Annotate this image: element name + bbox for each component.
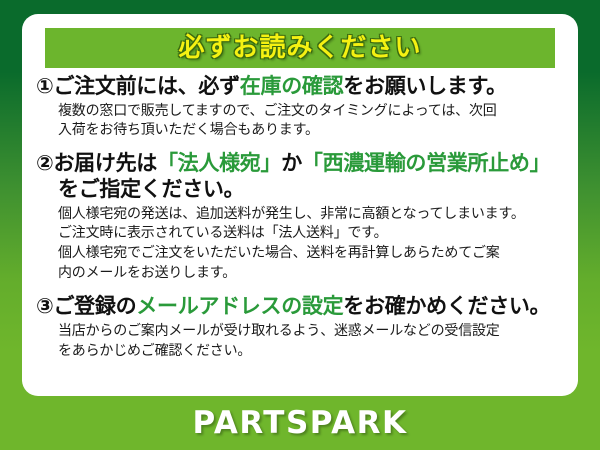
heading-text: をお確かめください。 xyxy=(343,294,550,318)
heading-text: ご注文前には、必ず xyxy=(53,74,239,98)
heading-text: お届け先は xyxy=(53,151,157,175)
notice-item-body-line: をあらかじめご確認ください。 xyxy=(58,342,568,362)
notice-item-body-line: 入荷をお待ち頂いただく場合もあります。 xyxy=(58,121,568,141)
notice-item-heading: ①ご注文前には、必ず在庫の確認をお願いします。 xyxy=(36,74,568,100)
notice-item-heading-line-2: をご指定ください。 xyxy=(36,177,568,203)
heading-text: をお願いします。 xyxy=(343,74,507,98)
notice-item-number: ② xyxy=(36,151,53,175)
notice-item-body-line: 複数の窓口で販売してますので、ご注文のタイミングによっては、次回 xyxy=(58,102,568,122)
notice-item-body-line: 個人様宅宛でご注文をいただいた場合、送料を再計算しあらためてご案 xyxy=(58,244,568,264)
notice-item-body: 当店からのご案内メールが受け取れるよう、迷惑メールなどの受信設定をあらかじめご確… xyxy=(36,322,568,362)
heading-highlight-text: 「西濃運輸の営業所止め」 xyxy=(302,151,550,175)
notice-frame: 必ずお読みください ①ご注文前には、必ず在庫の確認をお願いします。複数の窓口で販… xyxy=(0,0,600,450)
heading-highlight-text: メールアドレスの設定 xyxy=(136,294,343,318)
heading-highlight-text: 「法人様宛」 xyxy=(157,151,281,175)
notice-item-heading: ③ご登録のメールアドレスの設定をお確かめください。 xyxy=(36,294,568,320)
notice-item-body-line: ご注文時に表示されている送料は「法人送料」です。 xyxy=(58,224,568,244)
notice-item-body: 個人様宅宛の発送は、追加送料が発生し、非常に高額となってしまいます。ご注文時に表… xyxy=(36,205,568,285)
notice-item-body-line: 当店からのご案内メールが受け取れるよう、迷惑メールなどの受信設定 xyxy=(58,322,568,342)
brand-name: PARTSPARK xyxy=(192,408,407,439)
footer-bar: PARTSPARK xyxy=(0,396,600,450)
notice-item-body-line: 個人様宅宛の発送は、追加送料が発生し、非常に高額となってしまいます。 xyxy=(58,205,568,225)
notice-title: 必ずお読みください xyxy=(178,35,421,61)
notice-item-number: ① xyxy=(36,74,53,98)
notice-item-body: 複数の窓口で販売してますので、ご注文のタイミングによっては、次回入荷をお待ち頂い… xyxy=(36,102,568,142)
notice-item: ②お届け先は「法人様宛」か「西濃運輸の営業所止め」をご指定ください。個人様宅宛の… xyxy=(22,151,578,284)
header-banner: 必ずお読みください xyxy=(45,28,555,68)
notice-items-list: ①ご注文前には、必ず在庫の確認をお願いします。複数の窓口で販売してますので、ご注… xyxy=(22,72,578,361)
notice-item-number: ③ xyxy=(36,294,53,318)
heading-text: ご登録の xyxy=(53,294,136,318)
notice-card: 必ずお読みください ①ご注文前には、必ず在庫の確認をお願いします。複数の窓口で販… xyxy=(22,14,578,396)
notice-item: ①ご注文前には、必ず在庫の確認をお願いします。複数の窓口で販売してますので、ご注… xyxy=(22,74,578,141)
heading-text: か xyxy=(281,151,302,175)
heading-highlight-text: 在庫の確認 xyxy=(240,74,344,98)
notice-item-body-line: 内のメールをお送りします。 xyxy=(58,264,568,284)
notice-item: ③ご登録のメールアドレスの設定をお確かめください。当店からのご案内メールが受け取… xyxy=(22,294,578,361)
notice-item-heading: ②お届け先は「法人様宛」か「西濃運輸の営業所止め」 xyxy=(36,151,568,177)
